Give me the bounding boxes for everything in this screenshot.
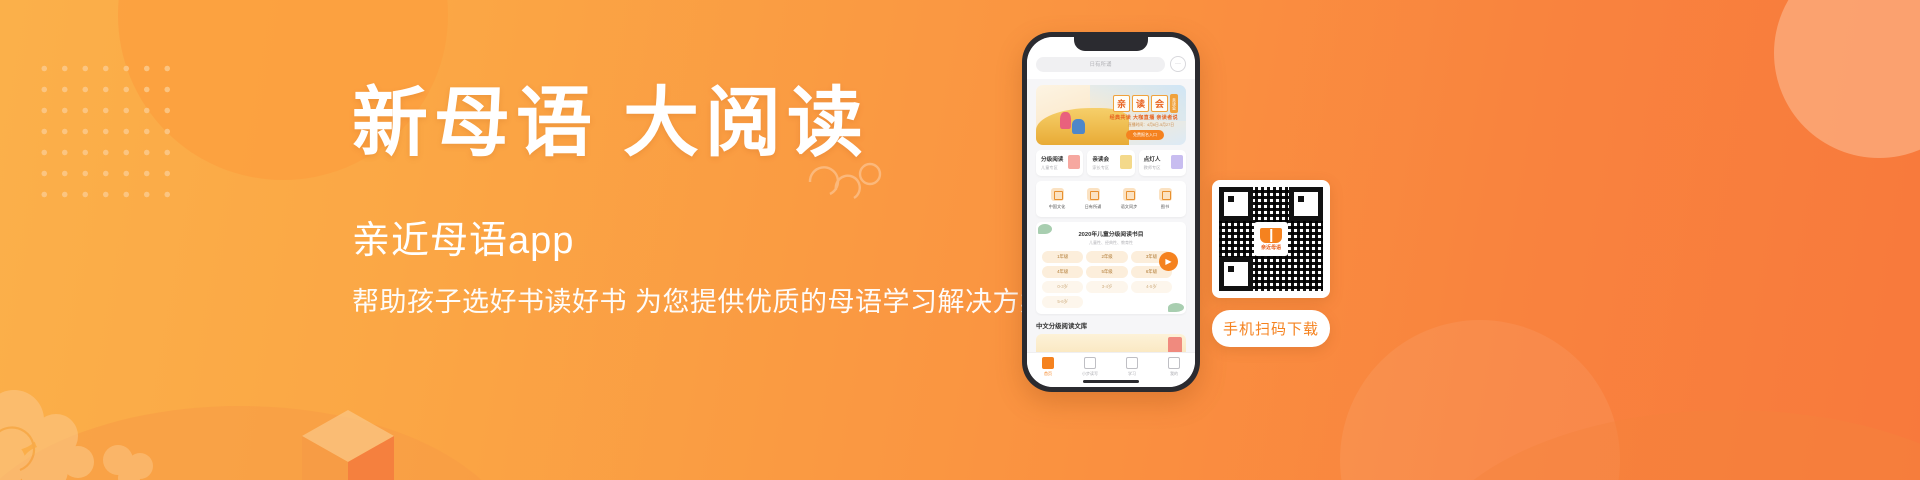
promo-banner: 新母语 大阅读 亲近母语app 帮助孩子选好书读好书 为您提供优质的母语学习解决… [0,0,1920,480]
tab-label: 我的 [1153,371,1195,377]
age-chip[interactable]: 0-3岁 [1042,281,1083,293]
qr-finder-top-right [1289,187,1323,221]
age-chip[interactable]: 4-5岁 [1131,281,1172,293]
library-section-title: 中文分级阅读文库 [1036,321,1195,330]
phone-mockup: 日有所诵 ··· 亲 读 会 亲读会 经典共读 大咖直播 亲读者说 直播时间：4… [1022,32,1200,392]
clipboard-icon [1126,357,1138,369]
promo-char-2: 读 [1132,95,1149,112]
category-card-row: 分级阅读 儿童专区 亲读会 家长专区 点灯人 教师专区 [1036,150,1186,176]
booklist-card[interactable]: 2020年儿童分级阅读书目 儿童性、经典性、教育性 1年级 2年级 3年级 4年… [1036,222,1186,314]
age-chip[interactable]: 3-4岁 [1086,281,1127,293]
user-icon [1168,357,1180,369]
grade-chip-group: 1年级 2年级 3年级 4年级 5年级 6年级 0-3岁 3-4岁 4-5岁 5… [1042,251,1180,308]
category-card-lamplighter[interactable]: 点灯人 教师专区 [1139,150,1186,176]
tagline: 帮助孩子选好书读好书 为您提供优质的母语学习解决方案 [352,289,1052,316]
qr-logo: 亲近母语 [1254,222,1288,256]
quick-icon-chinese-culture[interactable]: 中国文化 [1039,188,1075,210]
home-icon [1042,357,1054,369]
promo-flag: 亲读会 [1170,94,1178,113]
decor-hill-left [0,406,520,480]
quick-icon-label: 中国文化 [1039,204,1075,210]
more-icon[interactable]: ··· [1170,56,1186,72]
download-button[interactable]: 手机扫码下载 [1212,310,1330,347]
promo-subtitle: 经典共读 大咖直播 亲读者说 [1110,114,1178,121]
quick-icon-daily-recitation[interactable]: 日有所诵 [1075,188,1111,210]
promo-card[interactable]: 亲 读 会 亲读会 经典共读 大咖直播 亲读者说 直播时间：4月6日-5月27日… [1036,85,1186,145]
search-row: 日有所诵 ··· [1036,56,1186,72]
promo-char-3: 会 [1151,95,1168,112]
books-icon [1159,188,1172,201]
decor-circle-top-right [1774,0,1920,158]
booklist-title: 2020年儿童分级阅读书目 [1042,229,1180,238]
promo-child-2 [1072,119,1085,134]
promo-date: 直播时间：4月6日-5月27日 [1128,123,1174,128]
promo-title: 亲 读 会 亲读会 [1113,94,1178,113]
booklist-subtitle: 儿童性、经典性、教育性 [1042,240,1180,246]
qr-finder-top-left [1219,187,1253,221]
quick-icon-label: 日有所诵 [1075,204,1111,210]
age-chip[interactable]: 5-6岁 [1042,296,1083,308]
culture-icon [1051,188,1064,201]
quick-icon-label: 语文同步 [1111,204,1147,210]
book-shape-icon [1068,155,1080,169]
book-shape-icon [1120,155,1132,169]
document-icon [1084,357,1096,369]
decor-cloud-icon-bottom-left [0,378,124,480]
decor-cloud-icon-small [98,434,160,480]
decor-dot-grid [34,58,172,206]
category-card-graded-reading[interactable]: 分级阅读 儿童专区 [1036,150,1083,176]
promo-signup-button[interactable]: 免费报名入口 [1126,130,1164,140]
quick-icon-label: 图书 [1147,204,1183,210]
tab-reading-writing[interactable]: 小步读写 [1069,357,1111,377]
category-card-reading-club[interactable]: 亲读会 家长专区 [1087,150,1134,176]
search-input[interactable]: 日有所诵 [1036,57,1165,72]
grade-chip[interactable]: 2年级 [1086,251,1127,263]
decor-circle-right [1340,320,1620,480]
quick-icon-books[interactable]: 图书 [1147,188,1183,210]
tab-home[interactable]: 首页 [1027,357,1069,377]
home-indicator [1083,380,1139,383]
tab-study[interactable]: 学习 [1111,357,1153,377]
promo-char-1: 亲 [1113,95,1130,112]
qr-code-card: 亲近母语 [1212,180,1330,298]
syllabus-icon [1123,188,1136,201]
tab-label: 学习 [1111,371,1153,377]
grade-chip[interactable]: 4年级 [1042,266,1083,278]
quick-icon-row: 中国文化 日有所诵 语文同步 图书 [1036,181,1186,217]
grade-chip[interactable]: 1年级 [1042,251,1083,263]
leaf-icon-top [1038,224,1052,234]
phone-notch [1074,37,1148,51]
play-video-icon[interactable]: ▶ [1159,252,1178,271]
open-book-icon [1260,228,1282,243]
phone-screen: 日有所诵 ··· 亲 读 会 亲读会 经典共读 大咖直播 亲读者说 直播时间：4… [1027,37,1195,387]
qr-finder-bottom-left [1219,257,1253,291]
person-shape-icon [1171,155,1183,169]
tab-label: 首页 [1027,371,1069,377]
recite-icon [1087,188,1100,201]
decor-hill-right [1420,410,1920,480]
page-title: 新母语 大阅读 [352,86,1052,162]
promo-child-1 [1060,112,1071,129]
headline-block: 新母语 大阅读 亲近母语app 帮助孩子选好书读好书 为您提供优质的母语学习解决… [352,86,1052,316]
quick-icon-syllabus[interactable]: 语文同步 [1111,188,1147,210]
grade-chip[interactable]: 5年级 [1086,266,1127,278]
decor-cube-icon [300,406,396,480]
tab-label: 小步读写 [1069,371,1111,377]
tab-profile[interactable]: 我的 [1153,357,1195,377]
app-name: 亲近母语app [352,222,1052,260]
qr-logo-label: 亲近母语 [1261,244,1281,251]
qr-code: 亲近母语 [1219,187,1323,291]
